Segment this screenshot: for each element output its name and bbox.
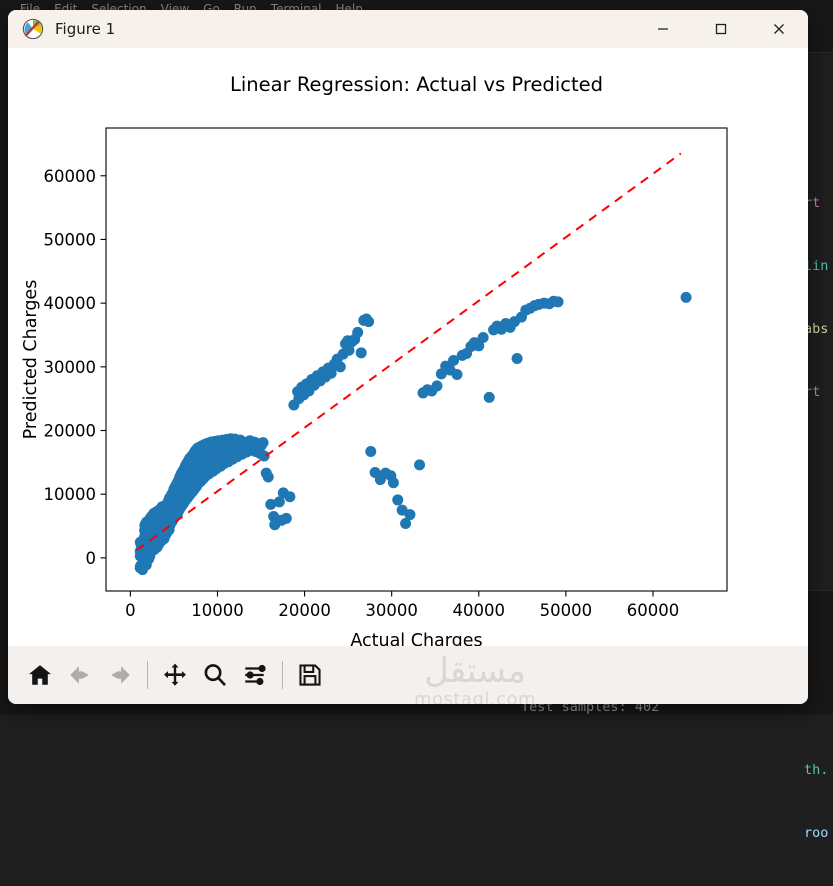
x-tick-label: 50000 bbox=[540, 601, 593, 620]
y-axis-label: Predicted Charges bbox=[21, 280, 41, 440]
y-tick-label: 50000 bbox=[44, 230, 97, 249]
toolbar-separator-2 bbox=[282, 661, 283, 689]
window-title: Figure 1 bbox=[55, 20, 115, 38]
scatter-point bbox=[365, 446, 376, 457]
scatter-point bbox=[356, 347, 367, 358]
y-tick-label: 0 bbox=[86, 549, 97, 568]
scatter-point bbox=[258, 437, 269, 448]
figure-title-bar[interactable]: Figure 1 bbox=[8, 10, 808, 48]
window-controls bbox=[634, 10, 808, 48]
watermark-latin: mostaql.com bbox=[360, 689, 590, 704]
scatter-point bbox=[478, 332, 489, 343]
matplotlib-toolbar: مستقل mostaql.com bbox=[8, 646, 808, 704]
zoom-button[interactable] bbox=[195, 654, 235, 696]
x-tick-label: 60000 bbox=[627, 601, 680, 620]
scatter-point bbox=[263, 472, 274, 483]
scatter-point bbox=[681, 292, 692, 303]
x-tick-label: 10000 bbox=[191, 601, 244, 620]
save-button[interactable] bbox=[290, 654, 330, 696]
x-tick-label: 40000 bbox=[453, 601, 506, 620]
figure-window: Figure 1 Linear Regression: Actual vs Pr… bbox=[8, 10, 808, 704]
chart-title: Linear Regression: Actual vs Predicted bbox=[230, 73, 603, 96]
y-tick-label: 20000 bbox=[44, 422, 97, 441]
scatter-point bbox=[404, 509, 415, 520]
y-tick-label: 30000 bbox=[44, 358, 97, 377]
scatter-point bbox=[392, 494, 403, 505]
y-tick-label: 10000 bbox=[44, 485, 97, 504]
forward-button[interactable] bbox=[100, 654, 140, 696]
scatter-point bbox=[281, 513, 292, 524]
x-axis-label: Actual Charges bbox=[350, 631, 482, 646]
x-tick-label: 30000 bbox=[365, 601, 418, 620]
code-token-root: roo bbox=[804, 825, 828, 841]
figure-canvas-area: Linear Regression: Actual vs Predicted01… bbox=[8, 48, 808, 646]
x-tick-label: 0 bbox=[125, 601, 136, 620]
back-button[interactable] bbox=[60, 654, 100, 696]
scatter-point bbox=[452, 369, 463, 380]
scatter-point bbox=[363, 316, 374, 327]
watermark: مستقل mostaql.com bbox=[360, 654, 590, 704]
code-token-th: th. bbox=[804, 762, 828, 778]
scatter-point bbox=[352, 327, 363, 338]
watermark-arabic: مستقل bbox=[360, 654, 590, 688]
toolbar-separator-1 bbox=[147, 661, 148, 689]
y-tick-label: 40000 bbox=[44, 294, 97, 313]
scatter-point bbox=[414, 459, 425, 470]
scatter-point bbox=[259, 450, 270, 461]
scatter-point bbox=[431, 380, 442, 391]
close-button[interactable] bbox=[750, 10, 808, 48]
scatter-plot[interactable]: Linear Regression: Actual vs Predicted01… bbox=[8, 48, 808, 646]
scatter-point bbox=[284, 491, 295, 502]
matplotlib-logo-icon bbox=[22, 18, 44, 40]
minimize-button[interactable] bbox=[634, 10, 692, 48]
configure-subplots-button[interactable] bbox=[235, 654, 275, 696]
home-button[interactable] bbox=[20, 654, 60, 696]
scatter-point bbox=[553, 296, 564, 307]
scatter-point bbox=[484, 392, 495, 403]
pan-button[interactable] bbox=[155, 654, 195, 696]
scatter-point bbox=[335, 361, 346, 372]
maximize-button[interactable] bbox=[692, 10, 750, 48]
scatter-point bbox=[512, 353, 523, 364]
y-tick-label: 60000 bbox=[44, 167, 97, 186]
x-tick-label: 20000 bbox=[278, 601, 331, 620]
scatter-point bbox=[388, 477, 399, 488]
